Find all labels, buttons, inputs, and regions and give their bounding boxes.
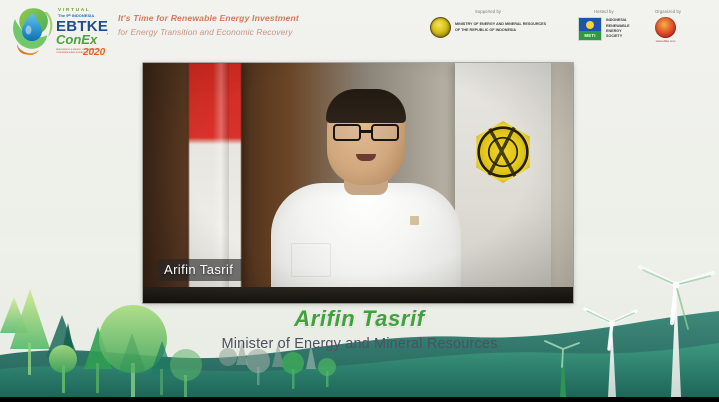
video-player[interactable]: Arifin Tasrif [143,63,573,303]
speaker-name: Arifin Tasrif [0,306,719,332]
partner-organized-by: Organized by www.ebtke.com [655,9,681,43]
organizer-red-seal-icon [655,17,676,38]
svg-text:The 9ᵗʰ INDONESIA: The 9ᵗʰ INDONESIA [58,13,94,18]
tagline-line-2: for Energy Transition and Economic Recov… [118,27,378,39]
speaker-role: Minister of Energy and Mineral Resources [0,336,719,352]
partner-supported-by: Supported by MINISTRY OF ENERGY AND MINE… [430,9,546,38]
bottom-letterbox-bar [0,397,719,402]
svg-text:ConEx: ConEx [56,32,98,47]
partner-text-line-1: MINISTRY OF ENERGY AND MINERAL RESOURCES [455,22,546,27]
partner-text-line-2: OF THE REPUBLIC OF INDONESIA [455,28,546,33]
svg-text:VIRTUAL: VIRTUAL [58,7,90,13]
meti-sky [579,18,601,31]
ebtke-conex-logo-icon: VIRTUAL The 9ᵗʰ INDONESIA EBTKE ConEx ' … [8,2,114,58]
partner-hosted-by: Hosted by METI INDONESIA RENEWABLE ENERG… [578,9,630,41]
partner-text-line-4: SOCIETY [606,34,630,39]
presentation-slide: VIRTUAL The 9ᵗʰ INDONESIA EBTKE ConEx ' … [0,0,719,402]
video-nameplate: Arifin Tasrif [157,259,242,281]
speaker-caption: Arifin Tasrif Minister of Energy and Min… [0,306,719,352]
partner-caption: Hosted by [578,9,630,14]
svg-text:2020: 2020 [82,47,106,58]
meti-logo-icon: METI [578,17,602,41]
organizer-url: www.ebtke.com [656,39,676,43]
partner-text-line-1: INDONESIA [606,18,630,23]
partner-caption: Supported by [430,9,546,14]
svg-text:': ' [107,33,109,39]
sun-icon [586,21,594,29]
meti-wordmark: METI [579,31,601,40]
event-tagline: It's Time for Renewable Energy Investmen… [118,13,378,38]
esdm-ministry-seal-icon [430,17,451,38]
event-logo: VIRTUAL The 9ᵗʰ INDONESIA EBTKE ConEx ' … [8,2,114,58]
partner-caption: Organized by [655,9,681,14]
tagline-line-1: It's Time for Renewable Energy Investmen… [118,13,378,25]
slide-header: VIRTUAL The 9ᵗʰ INDONESIA EBTKE ConEx ' … [0,0,719,58]
